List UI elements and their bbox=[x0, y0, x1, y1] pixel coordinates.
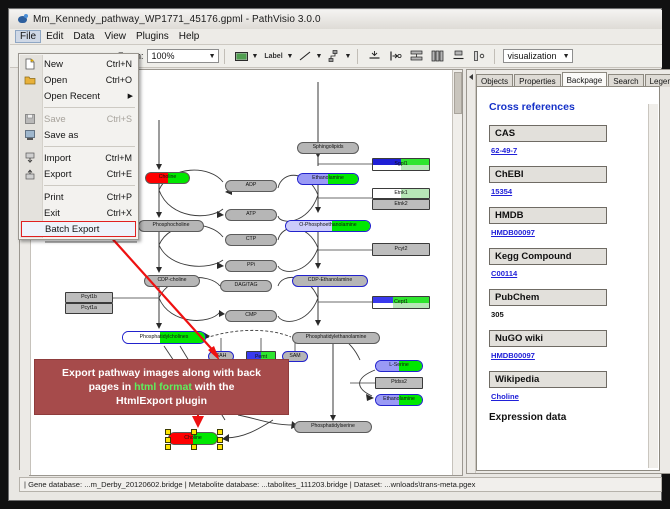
file-menu-item-export[interactable]: ExportCtrl+E bbox=[19, 166, 138, 182]
file-menu-item-accelerator: Ctrl+O bbox=[106, 75, 132, 85]
file-menu-item-accelerator: Ctrl+P bbox=[107, 192, 132, 202]
cross-reference-list: CAS62-49-7ChEBI15354HMDBHMDB00097Kegg Co… bbox=[477, 125, 659, 401]
file-menu-item-new[interactable]: NewCtrl+N bbox=[19, 56, 138, 72]
pathvisio-icon bbox=[16, 13, 29, 26]
align-left-icon[interactable] bbox=[387, 47, 405, 65]
menu-data[interactable]: Data bbox=[68, 30, 99, 43]
zoom-value: 100% bbox=[152, 51, 175, 61]
chevron-down-icon: ▼ bbox=[209, 53, 216, 60]
file-menu-item-label: Open Recent bbox=[44, 91, 100, 102]
menu-view[interactable]: View bbox=[99, 30, 131, 43]
sidebar-tabs: ObjectsPropertiesBackpageSearchLegend bbox=[476, 72, 669, 87]
file-menu-item-open-recent[interactable]: Open Recent▶ bbox=[19, 88, 138, 104]
visualization-combo[interactable]: visualization ▼ bbox=[503, 49, 573, 63]
file-menu-item-label: Save as bbox=[44, 130, 78, 141]
import-icon bbox=[24, 152, 37, 165]
stack-horizontal-icon[interactable] bbox=[429, 47, 447, 65]
menu-bar: File Edit Data View Plugins Help bbox=[10, 29, 662, 45]
new-file-icon bbox=[24, 58, 37, 71]
menu-edit[interactable]: Edit bbox=[41, 30, 68, 43]
label-tool[interactable]: Label bbox=[262, 47, 286, 65]
common-width-icon[interactable] bbox=[450, 47, 468, 65]
status-bar: | Gene database: ...m_Derby_20120602.bri… bbox=[19, 477, 662, 492]
annotation-line2-pre: pages in bbox=[89, 381, 135, 393]
file-menu-item-accelerator: Ctrl+N bbox=[106, 59, 132, 69]
expression-data-heading: Expression data bbox=[489, 412, 659, 423]
xref-value-hmdb[interactable]: HMDB00097 bbox=[491, 228, 659, 237]
backpage-panel: Cross references CAS62-49-7ChEBI15354HMD… bbox=[476, 86, 660, 471]
line-dropdown-icon[interactable]: ▼ bbox=[316, 53, 323, 60]
common-height-icon[interactable] bbox=[471, 47, 489, 65]
title-bar: Mm_Kennedy_pathway_WP1771_45176.gpml - P… bbox=[10, 10, 662, 30]
menu-separator bbox=[44, 185, 135, 186]
collapse-arrow-icon[interactable] bbox=[469, 74, 473, 80]
xref-value-kegg-compound[interactable]: C00114 bbox=[491, 269, 659, 278]
visualization-value: visualization bbox=[508, 51, 557, 61]
label-tool-text: Label bbox=[264, 53, 282, 60]
file-menu-item-label: Import bbox=[44, 153, 71, 164]
xref-value-nugo-wiki[interactable]: HMDB00097 bbox=[491, 351, 659, 360]
menu-separator bbox=[44, 146, 135, 147]
save-as-icon bbox=[24, 129, 37, 142]
line-tool[interactable] bbox=[297, 47, 315, 65]
file-menu-item-label: Open bbox=[44, 75, 67, 86]
file-menu-item-batch-export[interactable]: Batch Export bbox=[21, 221, 136, 237]
xref-label-nugo-wiki: NuGO wiki bbox=[489, 330, 607, 347]
file-menu-popup[interactable]: NewCtrl+NOpenCtrl+OOpen Recent▶SaveCtrl+… bbox=[18, 53, 139, 240]
xref-value-chebi[interactable]: 15354 bbox=[491, 187, 659, 196]
sidebar-gutter bbox=[467, 70, 476, 473]
file-menu-item-import[interactable]: ImportCtrl+M bbox=[19, 150, 138, 166]
receptor-dropdown-icon[interactable]: ▼ bbox=[345, 53, 352, 60]
application-window: Mm_Kennedy_pathway_WP1771_45176.gpml - P… bbox=[8, 8, 662, 501]
annotation-line1: Export pathway images along with back bbox=[62, 367, 261, 379]
file-menu-item-label: New bbox=[44, 59, 63, 70]
submenu-arrow-icon: ▶ bbox=[128, 92, 133, 100]
file-menu-item-exit[interactable]: ExitCtrl+X bbox=[19, 205, 138, 221]
menu-file[interactable]: File bbox=[15, 30, 41, 43]
xref-label-hmdb: HMDB bbox=[489, 207, 607, 224]
xref-label-wikipedia: Wikipedia bbox=[489, 371, 607, 388]
window-title: Mm_Kennedy_pathway_WP1771_45176.gpml - P… bbox=[33, 14, 321, 25]
menu-plugins[interactable]: Plugins bbox=[131, 30, 174, 43]
toolbar-separator-2 bbox=[357, 49, 358, 64]
file-menu-item-save-as[interactable]: Save as bbox=[19, 127, 138, 143]
zoom-combo[interactable]: 100% ▼ bbox=[147, 49, 219, 63]
xref-value-cas[interactable]: 62-49-7 bbox=[491, 146, 659, 155]
file-menu-item-accelerator: Ctrl+M bbox=[105, 153, 132, 163]
xref-value-wikipedia[interactable]: Choline bbox=[491, 392, 659, 401]
annotation-text: Export pathway images along with back pa… bbox=[56, 366, 267, 409]
file-menu-item-accelerator: Ctrl+E bbox=[107, 169, 132, 179]
annotation-highlight: html format bbox=[134, 381, 192, 393]
label-dropdown-icon[interactable]: ▼ bbox=[287, 53, 294, 60]
stack-vertical-icon[interactable] bbox=[408, 47, 426, 65]
xref-label-pubchem: PubChem bbox=[489, 289, 607, 306]
file-menu-item-print[interactable]: PrintCtrl+P bbox=[19, 189, 138, 205]
folder-open-icon bbox=[24, 74, 37, 87]
file-menu-item-save: SaveCtrl+S bbox=[19, 111, 138, 127]
file-menu-item-label: Exit bbox=[44, 208, 60, 219]
datanode-dropdown-icon[interactable]: ▼ bbox=[252, 53, 259, 60]
xref-label-chebi: ChEBI bbox=[489, 166, 607, 183]
file-menu-item-label: Print bbox=[44, 192, 64, 203]
sidebar-panel: ObjectsPropertiesBackpageSearchLegend Cr… bbox=[466, 69, 670, 474]
sidebar-scrollbar[interactable] bbox=[648, 104, 658, 468]
file-menu-item-label: Save bbox=[44, 114, 66, 125]
file-menu-item-label: Batch Export bbox=[45, 224, 99, 235]
annotation-line2-post: with the bbox=[192, 381, 235, 393]
receptor-tool[interactable] bbox=[326, 47, 344, 65]
menu-separator bbox=[44, 107, 135, 108]
xref-label-kegg-compound: Kegg Compound bbox=[489, 248, 607, 265]
status-text: | Gene database: ...m_Derby_20120602.bri… bbox=[24, 480, 475, 489]
cross-references-heading: Cross references bbox=[489, 101, 659, 113]
chevron-down-icon-2: ▼ bbox=[563, 53, 570, 60]
toolbar-separator-3 bbox=[494, 49, 495, 64]
file-menu-item-accelerator: Ctrl+S bbox=[107, 114, 132, 124]
save-icon bbox=[24, 113, 37, 126]
xref-label-cas: CAS bbox=[489, 125, 607, 142]
datanode-tool[interactable] bbox=[233, 47, 251, 65]
screen-background: Mm_Kennedy_pathway_WP1771_45176.gpml - P… bbox=[0, 0, 670, 509]
export-icon bbox=[24, 168, 37, 181]
xref-value-pubchem: 305 bbox=[491, 310, 659, 319]
toolbar-separator bbox=[224, 49, 225, 64]
file-menu-item-label: Export bbox=[44, 169, 71, 180]
annotation-line3: HtmlExport plugin bbox=[116, 395, 207, 407]
file-menu-item-open[interactable]: OpenCtrl+O bbox=[19, 72, 138, 88]
menu-help[interactable]: Help bbox=[174, 30, 205, 43]
annotation-callout: Export pathway images along with back pa… bbox=[34, 359, 289, 415]
align-top-icon[interactable] bbox=[366, 47, 384, 65]
sidebar-tab-backpage[interactable]: Backpage bbox=[562, 72, 608, 87]
file-menu-item-accelerator: Ctrl+X bbox=[107, 208, 132, 218]
